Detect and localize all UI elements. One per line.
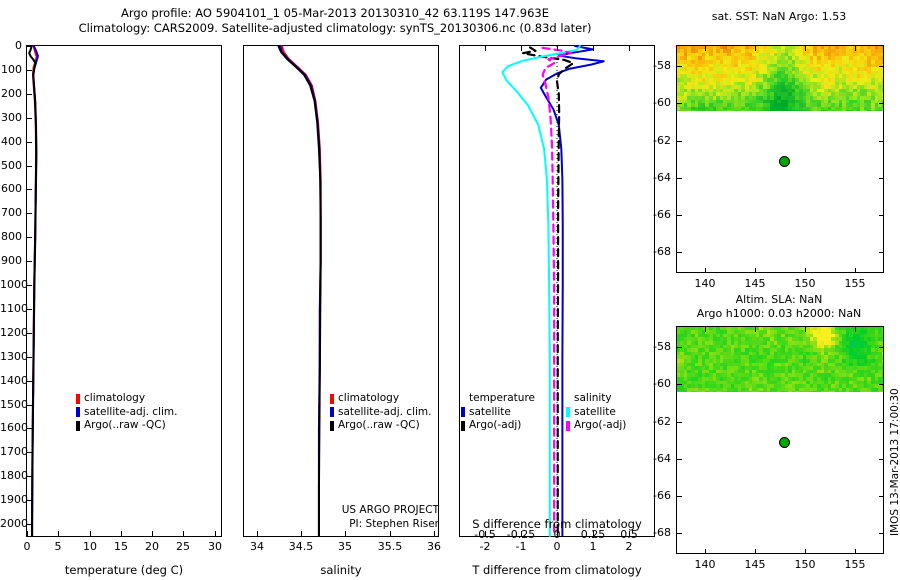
difference-legend-salinity: salinity satellite Argo(-adj) xyxy=(566,392,626,433)
axis-tick xyxy=(183,531,184,536)
depth-axis-tick xyxy=(27,142,32,143)
depth-axis-tick xyxy=(27,70,32,71)
sst-lon-tick xyxy=(855,268,856,273)
sla-lon-tick-top xyxy=(805,327,806,332)
axis-tick xyxy=(390,531,391,536)
sla-lon-tick-top xyxy=(705,327,706,332)
depth-axis-tick xyxy=(27,189,32,190)
legend-header-temperature: temperature xyxy=(461,392,535,406)
axis-tick xyxy=(345,531,346,536)
temperature-axis-tick-label: 20 xyxy=(138,540,166,553)
depth-axis-tick xyxy=(27,46,32,47)
sla-lat-label: -62 xyxy=(644,415,671,428)
sla-map-title-line-1: Altim. SLA: NaN xyxy=(672,293,886,306)
legend-item-salinity-argo-adj: Argo(-adj) xyxy=(566,419,626,433)
sst-lon-tick-top xyxy=(705,46,706,51)
axis-tick xyxy=(58,531,59,536)
sla-lon-label: 140 xyxy=(687,558,723,571)
series-climatology xyxy=(282,46,321,536)
legend-swatch-salinity-argo-adj xyxy=(566,421,570,431)
legend-header-salinity: salinity xyxy=(566,392,626,406)
sla-lon-label: 150 xyxy=(787,558,823,571)
sst-lon-tick xyxy=(805,268,806,273)
t-difference-axis-tick-label: -2 xyxy=(469,540,501,553)
depth-axis-tick xyxy=(27,94,32,95)
sla-lon-tick xyxy=(805,549,806,554)
sst-lat-label: -60 xyxy=(644,96,671,109)
legend-label-salinity-header: salinity xyxy=(574,392,612,406)
sst-lon-label: 155 xyxy=(837,277,873,290)
sla-lat-tick xyxy=(677,496,682,497)
axis-tick xyxy=(121,531,122,536)
legend-item-satellite-adj-clim-salinity: satellite-adj. clim. xyxy=(330,406,431,420)
sla-lat-tick xyxy=(677,347,682,348)
axis-tick xyxy=(434,531,435,536)
legend-item-argo-raw-qc-salinity: Argo(..raw -QC) xyxy=(330,419,431,433)
sst-lon-tick xyxy=(705,268,706,273)
sst-lat-label: -64 xyxy=(644,171,671,184)
sst-lon-label: 140 xyxy=(687,277,723,290)
axis-tick xyxy=(152,531,153,536)
sst-lat-tick xyxy=(677,141,682,142)
axis-tick xyxy=(27,531,28,536)
legend-label-temperature-argo-adj: Argo(-adj) xyxy=(469,419,521,433)
sst-lat-label: -68 xyxy=(644,245,671,258)
series-temperature-argo-adj- xyxy=(523,47,573,536)
depth-axis-tick xyxy=(27,237,32,238)
sla-map-title-line-2: Argo h1000: 0.03 h2000: NaN xyxy=(662,307,896,320)
difference-xlabel-top: S difference from climatology xyxy=(459,517,655,531)
legend-label-salinity-argo-adj: Argo(-adj) xyxy=(574,419,626,433)
sla-lon-tick xyxy=(855,549,856,554)
depth-axis-tick-label: 600 xyxy=(0,182,22,195)
axis-tick xyxy=(257,531,258,536)
sla-lat-tick xyxy=(677,533,682,534)
sla-lat-tick xyxy=(677,422,682,423)
legend-label-temperature-header: temperature xyxy=(469,392,535,406)
salinity-axis-tick-label: 34.5 xyxy=(281,540,321,553)
legend-label-salinity-satellite: satellite xyxy=(574,406,616,420)
legend-swatch-salinity-satellite xyxy=(566,407,570,417)
depth-axis-tick-label: 1000 xyxy=(0,278,22,291)
series-salinity-satellite xyxy=(502,46,580,536)
sla-lon-label: 145 xyxy=(737,558,773,571)
sla-lat-tick-right xyxy=(879,384,884,385)
sla-lon-tick-top xyxy=(855,327,856,332)
axis-tick xyxy=(90,531,91,536)
sst-map xyxy=(676,45,884,273)
legend-swatch-satellite-adj-clim-salinity xyxy=(330,407,334,417)
legend-label-climatology-salinity: climatology xyxy=(338,392,399,406)
salinity-axis-tick-label: 34 xyxy=(237,540,277,553)
legend-label-climatology: climatology xyxy=(84,392,145,406)
legend-item-climatology-salinity: climatology xyxy=(330,392,431,406)
sla-lat-tick xyxy=(677,384,682,385)
sst-lat-tick-right xyxy=(879,178,884,179)
project-credit-line-1: US ARGO PROJECT xyxy=(279,504,439,518)
sla-lon-tick xyxy=(755,549,756,554)
sst-lon-label: 145 xyxy=(737,277,773,290)
salinity-xlabel: salinity xyxy=(243,563,439,577)
sst-lat-tick xyxy=(677,215,682,216)
legend-item-salinity-satellite: satellite xyxy=(566,406,626,420)
legend-item-satellite-adj-clim: satellite-adj. clim. xyxy=(76,406,177,420)
sla-lon-tick xyxy=(705,549,706,554)
salinity-axis-tick-label: 36 xyxy=(414,540,454,553)
sst-lat-tick-right xyxy=(879,141,884,142)
legend-label-satellite-adj-clim: satellite-adj. clim. xyxy=(84,406,177,420)
legend-swatch-climatology-salinity xyxy=(330,394,334,404)
depth-axis-tick xyxy=(27,261,32,262)
sst-lat-tick xyxy=(677,178,682,179)
temperature-axis-tick-label: 0 xyxy=(13,540,41,553)
legend-label-argo-raw-qc: Argo(..raw -QC) xyxy=(84,419,166,433)
legend-swatch-temperature-satellite xyxy=(461,407,465,417)
depth-axis-tick-label: 1800 xyxy=(0,469,22,482)
axis-tick xyxy=(593,46,594,51)
axis-tick xyxy=(215,531,216,536)
sla-lat-tick-right xyxy=(879,422,884,423)
depth-axis-tick-label: 100 xyxy=(0,63,22,76)
legend-swatch-argo-raw-qc xyxy=(76,421,80,431)
difference-profile-plot xyxy=(460,46,654,536)
sla-lat-label: -58 xyxy=(644,340,671,353)
sst-lon-tick-top xyxy=(805,46,806,51)
sst-lat-tick xyxy=(677,66,682,67)
salinity-legend: climatology satellite-adj. clim. Argo(..… xyxy=(330,392,431,433)
sst-lat-tick xyxy=(677,252,682,253)
sla-lat-tick-right xyxy=(879,496,884,497)
temperature-axis-tick-label: 10 xyxy=(76,540,104,553)
sst-lat-label: -66 xyxy=(644,208,671,221)
legend-label-argo-raw-qc-salinity: Argo(..raw -QC) xyxy=(338,419,420,433)
difference-xlabel-bottom: T difference from climatology xyxy=(453,563,661,577)
sla-map xyxy=(676,326,884,554)
sla-lat-label: -60 xyxy=(644,377,671,390)
sst-lon-tick-top xyxy=(855,46,856,51)
float-position-marker-sst xyxy=(779,156,790,167)
depth-axis-tick-label: 200 xyxy=(0,87,22,100)
depth-axis-tick xyxy=(27,213,32,214)
axis-tick xyxy=(521,46,522,51)
sla-lat-label: -66 xyxy=(644,489,671,502)
t-difference-axis-tick-label: 1 xyxy=(577,540,609,553)
sla-lat-tick-right xyxy=(879,459,884,460)
sst-lat-label: -62 xyxy=(644,134,671,147)
difference-legend-temperature: temperature satellite Argo(-adj) xyxy=(461,392,535,433)
legend-item-temperature-argo-adj: Argo(-adj) xyxy=(461,419,535,433)
depth-axis-tick-label: 1900 xyxy=(0,493,22,506)
t-difference-axis-tick-label: 2 xyxy=(613,540,645,553)
difference-profile-axes xyxy=(459,45,655,537)
sla-lat-label: -64 xyxy=(644,452,671,465)
sst-map-title: sat. SST: NaN Argo: 1.53 xyxy=(672,10,886,23)
sla-lon-label: 155 xyxy=(837,558,873,571)
legend-swatch-climatology xyxy=(76,394,80,404)
legend-item-argo-raw-qc: Argo(..raw -QC) xyxy=(76,419,177,433)
salinity-axis-tick-label: 35.5 xyxy=(370,540,410,553)
temperature-axis-tick-label: 30 xyxy=(201,540,229,553)
sst-lat-tick-right xyxy=(879,252,884,253)
sst-lat-tick xyxy=(677,103,682,104)
project-credit-line-2: PI: Stephen Riser xyxy=(279,518,439,532)
depth-axis-tick-label: 1400 xyxy=(0,374,22,387)
sst-lon-label: 150 xyxy=(787,277,823,290)
sla-lat-label: -68 xyxy=(644,526,671,539)
series-satellite-adj-clim- xyxy=(280,46,320,536)
sla-lon-tick-top xyxy=(755,327,756,332)
depth-axis-tick-label: 400 xyxy=(0,135,22,148)
imos-timestamp: IMOS 13-Mar-2013 17:00:30 xyxy=(889,388,900,536)
temperature-axis-tick-label: 25 xyxy=(169,540,197,553)
temperature-axis-tick-label: 15 xyxy=(107,540,135,553)
t-difference-axis-tick-label: -1 xyxy=(505,540,537,553)
depth-axis-tick-label: 800 xyxy=(0,230,22,243)
depth-axis-tick-label: 700 xyxy=(0,206,22,219)
legend-item-temperature-satellite: satellite xyxy=(461,406,535,420)
axis-tick xyxy=(629,46,630,51)
axis-tick xyxy=(557,46,558,51)
salinity-profile-axes xyxy=(243,45,439,537)
legend-label-satellite-adj-clim-salinity: satellite-adj. clim. xyxy=(338,406,431,420)
depth-axis-tick-label: 1600 xyxy=(0,421,22,434)
depth-axis-tick-label: 1300 xyxy=(0,350,22,363)
sla-lat-tick-right xyxy=(879,347,884,348)
temperature-xlabel: temperature (deg C) xyxy=(26,563,222,577)
depth-axis-tick-label: 0 xyxy=(0,39,22,52)
salinity-axis-tick-label: 35 xyxy=(325,540,365,553)
sst-lat-tick-right xyxy=(879,215,884,216)
legend-swatch-argo-raw-qc-salinity xyxy=(330,421,334,431)
depth-axis-tick-label: 1200 xyxy=(0,326,22,339)
depth-axis-tick-label: 300 xyxy=(0,111,22,124)
depth-axis-tick-label: 500 xyxy=(0,159,22,172)
salinity-profile-plot xyxy=(244,46,438,536)
sst-lat-tick-right xyxy=(879,103,884,104)
sla-lat-tick-right xyxy=(879,533,884,534)
depth-axis-tick-label: 1700 xyxy=(0,445,22,458)
depth-axis-tick-label: 900 xyxy=(0,254,22,267)
legend-swatch-satellite-adj-clim xyxy=(76,407,80,417)
depth-axis-tick-label: 1500 xyxy=(0,398,22,411)
sst-lat-label: -58 xyxy=(644,59,671,72)
legend-item-climatology: climatology xyxy=(76,392,177,406)
axis-tick xyxy=(485,46,486,51)
legend-label-temperature-satellite: satellite xyxy=(469,406,511,420)
project-credit: US ARGO PROJECT PI: Stephen Riser xyxy=(279,504,439,531)
sst-lon-tick xyxy=(755,268,756,273)
sla-lat-tick xyxy=(677,459,682,460)
temperature-axis-tick-label: 5 xyxy=(44,540,72,553)
sst-lat-tick-right xyxy=(879,66,884,67)
float-position-marker-sla xyxy=(779,437,790,448)
series-argo-raw-qc- xyxy=(278,46,320,536)
axis-tick xyxy=(301,531,302,536)
temperature-legend: climatology satellite-adj. clim. Argo(..… xyxy=(76,392,177,433)
depth-axis-tick xyxy=(27,118,32,119)
t-difference-axis-tick-label: 0 xyxy=(541,540,573,553)
legend-swatch-temperature-argo-adj xyxy=(461,421,465,431)
depth-axis-tick-label: 1100 xyxy=(0,302,22,315)
depth-axis-tick-label: 2000 xyxy=(0,517,22,530)
sst-lon-tick-top xyxy=(755,46,756,51)
depth-axis-tick xyxy=(27,166,32,167)
